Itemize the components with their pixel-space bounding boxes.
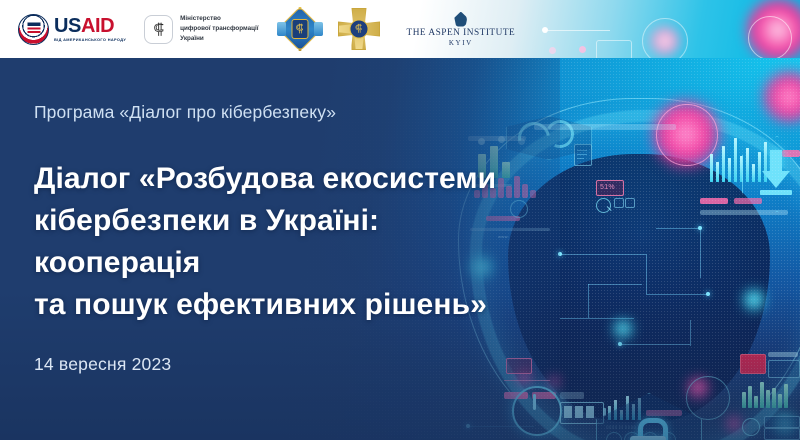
page-title-line-3: та пошук ефективних рішень» [34, 284, 534, 326]
header-line-icon [548, 30, 610, 31]
header-ring-2-icon [642, 18, 688, 58]
page-title: Діалог «Розбудова екосистеми кібербезпек… [34, 158, 534, 326]
ssscip-diamond-emblem-icon: ⸿ [277, 4, 323, 54]
ministry-name: Міністерство цифрової трансформації Укра… [180, 14, 258, 43]
ministry-line-1: Міністерство [180, 14, 258, 24]
ssscip-wing-left-icon [277, 22, 286, 36]
program-name: Програма «Діалог про кібербезпеку» [34, 102, 336, 123]
logo-ministry-digital-transformation: ⸿ Міністерство цифрової трансформації Ук… [144, 14, 258, 43]
banner-copy: Програма «Діалог про кібербезпеку» Діало… [34, 58, 554, 440]
usaid-wordmark-text: USAID [54, 16, 126, 36]
partner-logo-header: USAID ВІД АМЕРИКАНСЬКОГО НАРОДУ ⸿ Мініст… [0, 0, 800, 58]
event-date: 14 вересня 2023 [34, 354, 171, 375]
event-banner: USAID ВІД АМЕРИКАНСЬКОГО НАРОДУ ⸿ Мініст… [0, 0, 800, 440]
ministry-line-2: цифрової трансформації [180, 24, 258, 34]
ssscip-wing-right-icon [314, 22, 323, 36]
usaid-wordmark: USAID ВІД АМЕРИКАНСЬКОГО НАРОДУ [54, 16, 126, 42]
usaid-tagline: ВІД АМЕРИКАНСЬКОГО НАРОДУ [54, 38, 126, 42]
header-dot-pink-2-icon [549, 47, 556, 54]
sbu-tryzub-core: ⸿ [349, 20, 368, 39]
page-title-line-2: кібербезпеки в Україні: кооперація [34, 200, 534, 284]
cyber-artwork-stage: www. 51% [0, 58, 800, 440]
usaid-us-text: US [54, 15, 81, 37]
ministry-line-3: України [180, 34, 258, 44]
ssscip-tryzub-core: ⸿ [291, 19, 308, 39]
page-title-line-1: Діалог «Розбудова екосистеми [34, 158, 534, 200]
logo-aspen-institute: THE ASPEN INSTITUTE KYIV [407, 12, 516, 47]
aspen-leaf-icon [454, 12, 467, 27]
usaid-aid-text: AID [81, 15, 114, 37]
tryzub-glyph: ⸿ [153, 22, 164, 37]
aspen-name-text: THE ASPEN INSTITUTE [407, 28, 516, 38]
logo-usaid: USAID ВІД АМЕРИКАНСЬКОГО НАРОДУ [18, 14, 126, 45]
usaid-seal-icon [18, 14, 49, 45]
header-cyan-effects [500, 0, 800, 58]
tryzub-badge-icon: ⸿ [144, 15, 173, 44]
header-dot-icon [542, 27, 548, 33]
logo-row: USAID ВІД АМЕРИКАНСЬКОГО НАРОДУ ⸿ Мініст… [18, 0, 515, 58]
header-dot-pink-icon [579, 46, 586, 53]
header-hud-box-icon [596, 40, 632, 58]
header-ring-icon [748, 16, 792, 58]
sbu-gold-cross-emblem-icon: ⸿ [337, 4, 381, 54]
aspen-city-text: KYIV [449, 39, 473, 47]
